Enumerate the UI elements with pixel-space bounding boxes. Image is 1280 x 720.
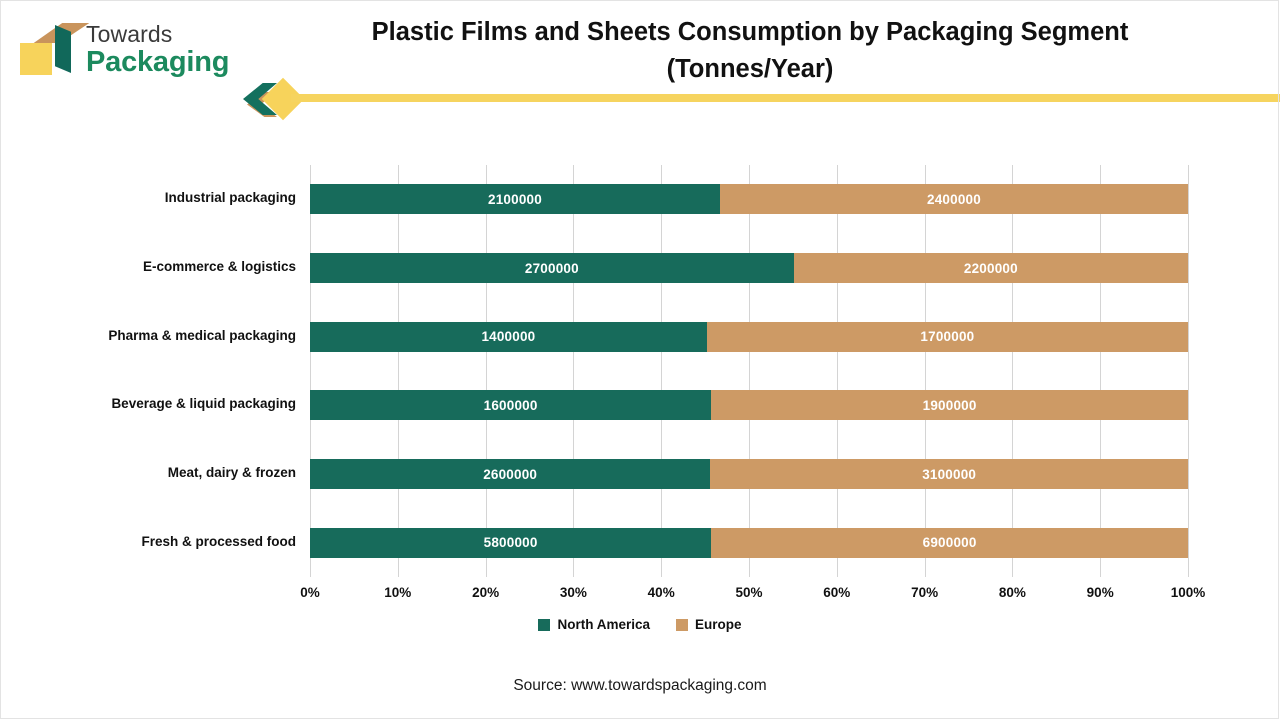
x-axis-tick-label: 0% [280, 585, 340, 600]
y-axis-label: Industrial packaging [0, 190, 296, 205]
accent-rule [291, 94, 1280, 102]
x-axis-tick-label: 100% [1158, 585, 1218, 600]
legend-swatch-icon [676, 619, 688, 631]
legend-item[interactable]: North America [538, 617, 650, 632]
y-axis-label: Meat, dairy & frozen [0, 465, 296, 480]
logo-right-face [55, 25, 71, 73]
gridline [925, 165, 926, 577]
legend-item[interactable]: Europe [676, 617, 742, 632]
x-axis-tick-label: 80% [982, 585, 1042, 600]
bar-row[interactable]: 14000001700000 [310, 322, 1188, 352]
brand-name-line1: Towards [86, 23, 229, 46]
bar-segment-north-america[interactable]: 2700000 [310, 253, 794, 283]
x-axis-tick-label: 40% [631, 585, 691, 600]
bar-segment-europe[interactable]: 1900000 [711, 390, 1188, 420]
page-title: Plastic Films and Sheets Consumption by … [300, 14, 1200, 88]
x-axis-tick-label: 10% [368, 585, 428, 600]
brand-wordmark: Towards Packaging [86, 23, 229, 77]
bar-row[interactable]: 58000006900000 [310, 528, 1188, 558]
bar-row[interactable]: 16000001900000 [310, 390, 1188, 420]
y-axis-label: Pharma & medical packaging [0, 328, 296, 343]
gridline [573, 165, 574, 577]
brand-logo: Towards Packaging [14, 14, 254, 86]
box-3d-logo-icon [14, 19, 80, 81]
bar-segment-north-america[interactable]: 2600000 [310, 459, 710, 489]
gridline [486, 165, 487, 577]
gridline [837, 165, 838, 577]
y-axis-label: E-commerce & logistics [0, 259, 296, 274]
gridline [1012, 165, 1013, 577]
x-axis-tick-label: 90% [1070, 585, 1130, 600]
chart-container: 2100000240000027000002200000140000017000… [0, 118, 1280, 720]
logo-front-face [20, 43, 52, 75]
x-axis-tick-label: 50% [719, 585, 779, 600]
x-axis-tick-label: 70% [895, 585, 955, 600]
bar-segment-north-america[interactable]: 5800000 [310, 528, 711, 558]
bar-segment-north-america[interactable]: 1600000 [310, 390, 711, 420]
bar-segment-europe[interactable]: 3100000 [710, 459, 1188, 489]
source-note: Source: www.towardspackaging.com [0, 677, 1280, 695]
y-axis-label: Fresh & processed food [0, 534, 296, 549]
gridline [661, 165, 662, 577]
y-axis-label: Beverage & liquid packaging [0, 396, 296, 411]
x-axis-tick-label: 60% [807, 585, 867, 600]
bar-segment-north-america[interactable]: 1400000 [310, 322, 707, 352]
gridlines [310, 165, 1188, 577]
legend-label: Europe [695, 617, 742, 632]
page-header: Towards Packaging Plastic Films and Shee… [0, 0, 1280, 118]
x-axis-tick-label: 20% [456, 585, 516, 600]
bar-segment-europe[interactable]: 2400000 [720, 184, 1188, 214]
bar-row[interactable]: 27000002200000 [310, 253, 1188, 283]
bar-segment-europe[interactable]: 1700000 [707, 322, 1188, 352]
gridline [1100, 165, 1101, 577]
page-title-line1: Plastic Films and Sheets Consumption by … [300, 14, 1200, 51]
x-axis-tick-label: 30% [543, 585, 603, 600]
decorative-accent [243, 80, 1280, 118]
gridline [749, 165, 750, 577]
bar-segment-europe[interactable]: 2200000 [794, 253, 1188, 283]
brand-name-line2: Packaging [86, 48, 229, 77]
logo-top-face [18, 23, 89, 43]
legend-label: North America [557, 617, 650, 632]
bar-row[interactable]: 26000003100000 [310, 459, 1188, 489]
gridline [398, 165, 399, 577]
bar-row[interactable]: 21000002400000 [310, 184, 1188, 214]
bar-segment-europe[interactable]: 6900000 [711, 528, 1188, 558]
chart-legend: North AmericaEurope [0, 617, 1280, 632]
gridline [310, 165, 311, 577]
gridline [1188, 165, 1189, 577]
bar-segment-north-america[interactable]: 2100000 [310, 184, 720, 214]
x-axis-labels: 0%10%20%30%40%50%60%70%80%90%100% [310, 585, 1188, 607]
legend-swatch-icon [538, 619, 550, 631]
plot-area: 2100000240000027000002200000140000017000… [310, 165, 1188, 577]
